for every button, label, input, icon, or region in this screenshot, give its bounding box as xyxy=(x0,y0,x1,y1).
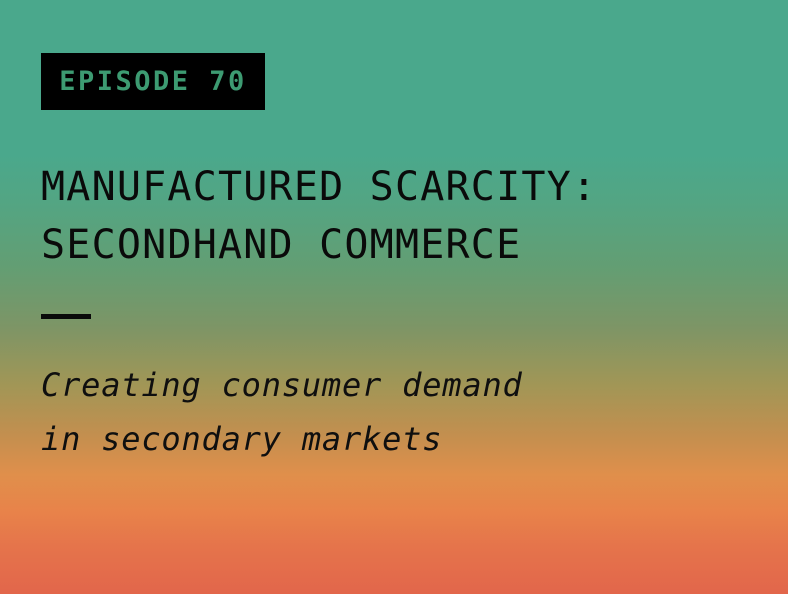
title-divider-rule xyxy=(41,314,91,319)
episode-subtitle-line-2: in secondary markets xyxy=(41,412,741,466)
episode-subtitle-line-1: Creating consumer demand xyxy=(41,358,741,412)
episode-title-card: EPISODE 70 MANUFACTURED SCARCITY: SECOND… xyxy=(0,0,788,594)
episode-subtitle: Creating consumer demand in secondary ma… xyxy=(41,358,741,466)
episode-number-label: EPISODE 70 xyxy=(59,68,247,95)
episode-number-badge: EPISODE 70 xyxy=(41,53,265,110)
episode-title-line-2: SECONDHAND COMMERCE xyxy=(41,216,741,274)
episode-title: MANUFACTURED SCARCITY: SECONDHAND COMMER… xyxy=(41,158,741,274)
episode-title-line-1: MANUFACTURED SCARCITY: xyxy=(41,158,741,216)
